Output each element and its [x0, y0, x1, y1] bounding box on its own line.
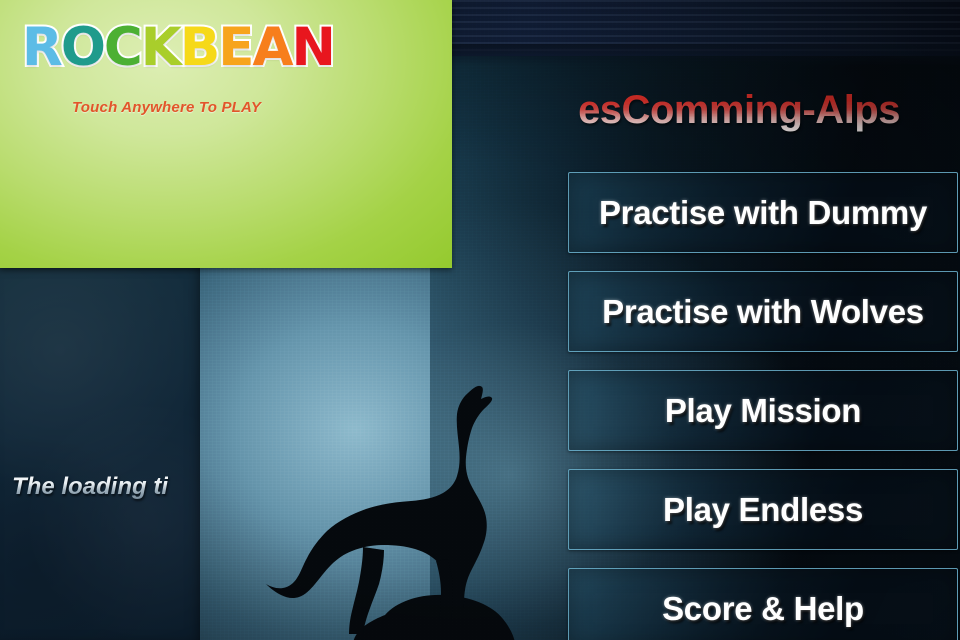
- practise-with-wolves-button[interactable]: Practise with Wolves: [568, 271, 958, 352]
- practise-with-dummy-button[interactable]: Practise with Dummy: [568, 172, 958, 253]
- rockbean-logo-letter-r-0: R: [22, 20, 61, 76]
- menu-button-label: Play Endless: [663, 491, 863, 529]
- rockbean-logo-letter-b-4: B: [180, 20, 218, 76]
- play-mission-button[interactable]: Play Mission: [568, 370, 958, 451]
- menu-button-label: Practise with Dummy: [599, 194, 927, 232]
- loading-tip-text-overlay: The loading ti: [12, 473, 168, 501]
- rockbean-logo-letter-c-2: C: [104, 20, 141, 76]
- menu-button-label: Play Mission: [665, 392, 861, 430]
- touch-anywhere-to-play-label: Touch Anywhere To PLAY: [72, 99, 261, 116]
- rockbean-logo-letter-k-3: K: [141, 20, 180, 76]
- game-screen: esComming-Alps The loading ti The loadin…: [0, 0, 960, 640]
- rockbean-logo-letter-o-1: O: [61, 20, 104, 76]
- left-dark-panel: [0, 268, 200, 640]
- rockbean-logo-letter-e-5: E: [218, 20, 252, 76]
- score-and-help-button[interactable]: Score & Help: [568, 568, 958, 640]
- menu-button-label: Score & Help: [662, 590, 864, 628]
- rockbean-splash-overlay[interactable]: ROCKBEAN Touch Anywhere To PLAY: [0, 0, 452, 268]
- rockbean-logo: ROCKBEAN: [22, 20, 334, 76]
- rockbean-logo-letter-a-6: A: [252, 20, 291, 76]
- menu-button-label: Practise with Wolves: [602, 293, 924, 331]
- play-endless-button[interactable]: Play Endless: [568, 469, 958, 550]
- left-dark-panel-texture: [0, 268, 200, 640]
- rockbean-logo-letter-n-7: N: [292, 20, 334, 76]
- main-menu: Practise with Dummy Practise with Wolves…: [568, 172, 958, 640]
